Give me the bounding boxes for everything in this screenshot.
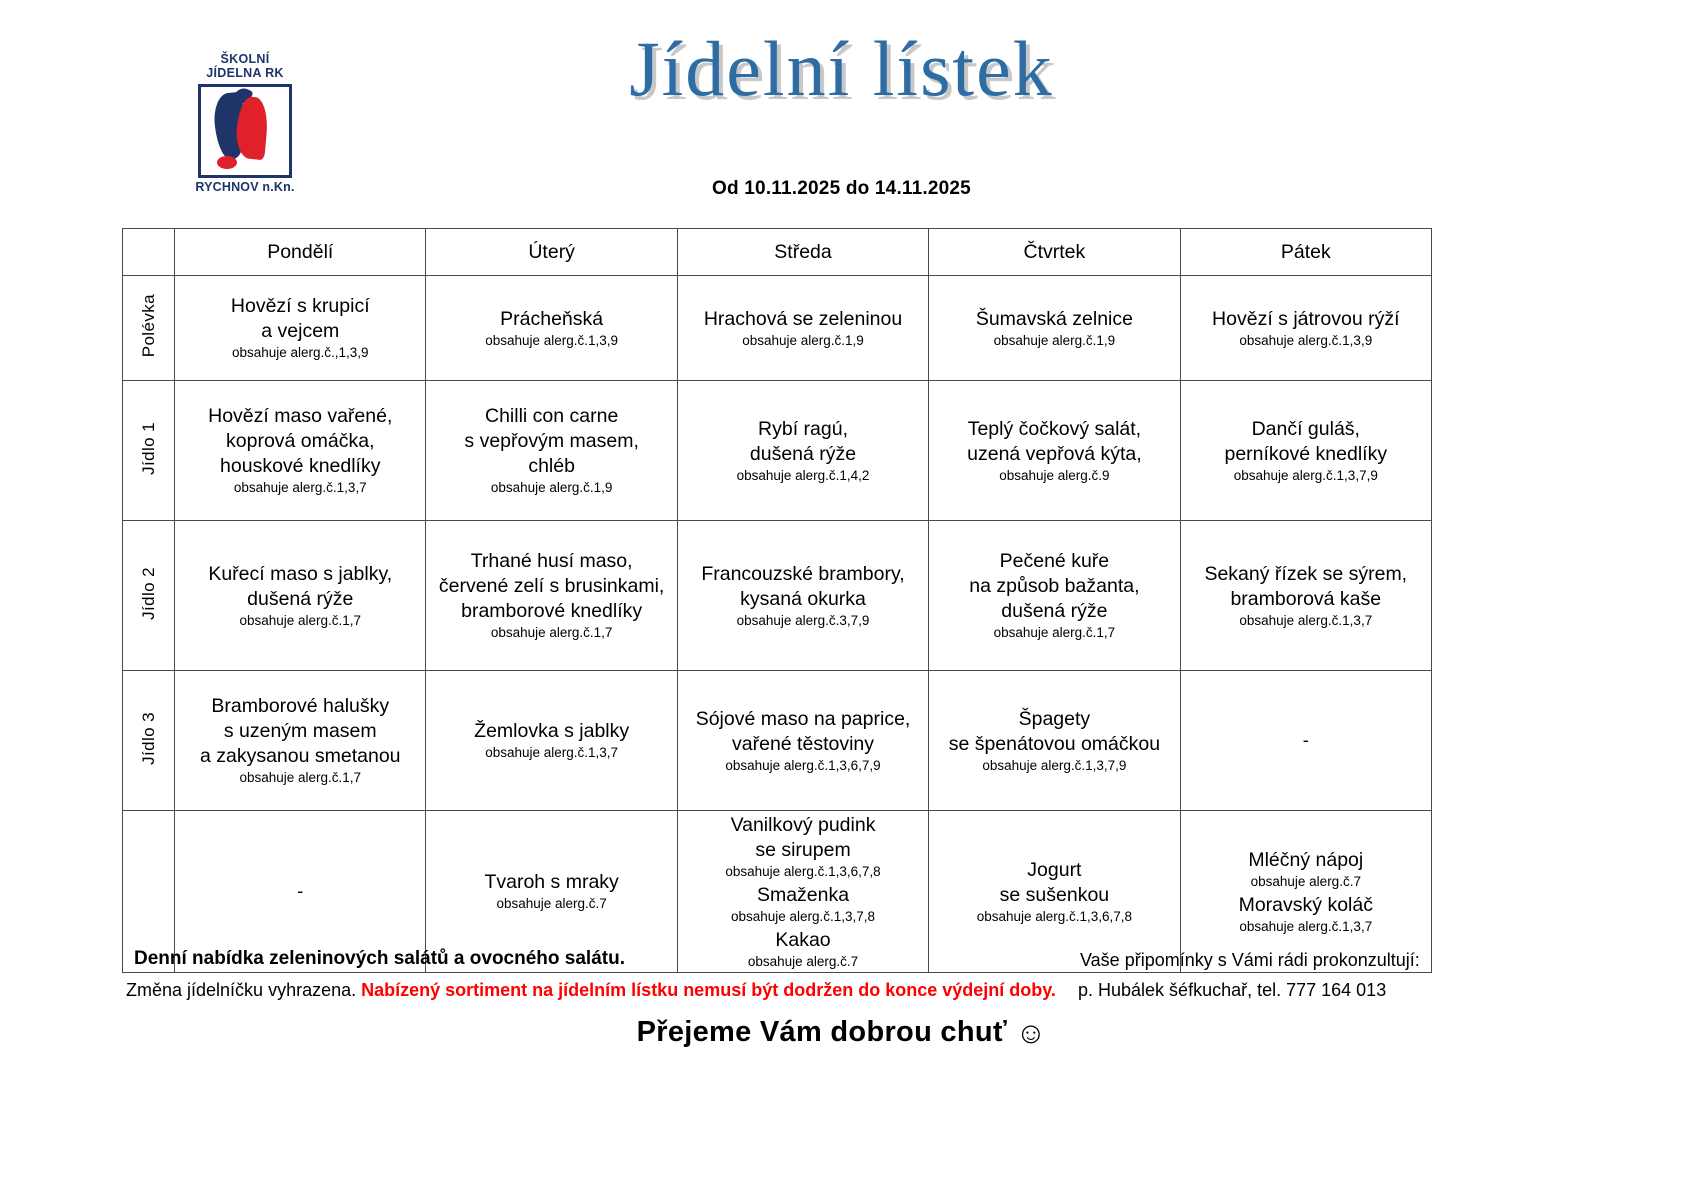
day-header-friday: Pátek xyxy=(1180,229,1431,276)
cell-meal3-thursday: Špagety se špenátovou omáčkou obsahuje a… xyxy=(929,671,1180,811)
allergen-note: obsahuje alerg.č.1,3,9 xyxy=(431,333,671,350)
dish: Bramborové halušky s uzeným masem a zaky… xyxy=(180,694,420,787)
day-header-monday: Pondělí xyxy=(175,229,426,276)
allergen-note: obsahuje alerg.č.,1,3,9 xyxy=(180,345,420,362)
cell-meal1-tuesday: Chilli con carne s vepřovým masem, chléb… xyxy=(426,381,677,521)
smiley-face-icon: ☺ xyxy=(1015,1017,1046,1050)
dish: Hovězí s krupicí a vejcem obsahuje alerg… xyxy=(180,294,420,362)
allergen-note: obsahuje alerg.č.1,3,7 xyxy=(431,745,671,762)
dish: Smaženka obsahuje alerg.č.1,3,7,8 xyxy=(683,883,923,926)
page-footer: Denní nabídka zeleninových salátů a ovoc… xyxy=(0,948,1683,1012)
cell-meal3-wednesday: Sójové maso na paprice, vařené těstoviny… xyxy=(677,671,928,811)
menu-table-container: Pondělí Úterý Středa Čtvrtek Pátek Polév… xyxy=(122,228,1432,973)
logo-red-dot-shape xyxy=(217,156,237,169)
cell-meal3-friday: - xyxy=(1180,671,1431,811)
allergen-note: obsahuje alerg.č.7 xyxy=(431,896,671,913)
day-header-tuesday: Úterý xyxy=(426,229,677,276)
cell-meal3-monday: Bramborové halušky s uzeným masem a zaky… xyxy=(175,671,426,811)
allergen-note: obsahuje alerg.č.1,9 xyxy=(934,333,1174,350)
row-label-soup: Polévka xyxy=(123,276,175,381)
dish: Dančí guláš, perníkové knedlíky obsahuje… xyxy=(1186,417,1426,485)
cell-meal2-friday: Sekaný řízek se sýrem, bramborová kaše o… xyxy=(1180,521,1431,671)
cell-meal1-thursday: Teplý čočkový salát, uzená vepřová kýta,… xyxy=(929,381,1180,521)
assortment-warning-text: Nabízený sortiment na jídelním lístku ne… xyxy=(361,980,1056,1000)
day-header-wednesday: Středa xyxy=(677,229,928,276)
contact-info: p. Hubálek šéfkuchař, tel. 777 164 013 xyxy=(1078,980,1386,1001)
cell-meal1-monday: Hovězí maso vařené, koprová omáčka, hous… xyxy=(175,381,426,521)
cell-soup-thursday: Šumavská zelnice obsahuje alerg.č.1,9 xyxy=(929,276,1180,381)
cell-soup-tuesday: Prácheňská obsahuje alerg.č.1,3,9 xyxy=(426,276,677,381)
cell-meal1-friday: Dančí guláš, perníkové knedlíky obsahuje… xyxy=(1180,381,1431,521)
dish: Špagety se špenátovou omáčkou obsahuje a… xyxy=(934,707,1174,775)
dish: Sekaný řízek se sýrem, bramborová kaše o… xyxy=(1186,562,1426,630)
menu-table-body: Polévka Hovězí s krupicí a vejcem obsahu… xyxy=(123,276,1432,973)
footer-line-1: Denní nabídka zeleninových salátů a ovoc… xyxy=(0,948,1683,980)
dish: Hovězí maso vařené, koprová omáčka, hous… xyxy=(180,404,420,497)
allergen-note: obsahuje alerg.č.1,3,7,9 xyxy=(1186,468,1426,485)
dish: Žemlovka s jablky obsahuje alerg.č.1,3,7 xyxy=(431,719,671,762)
page-title: Jídelní lístek xyxy=(0,28,1683,110)
change-reserved-text: Změna jídelníčku vyhrazena. xyxy=(126,980,361,1000)
dish: Kuřecí maso s jablky, dušená rýže obsahu… xyxy=(180,562,420,630)
day-header-thursday: Čtvrtek xyxy=(929,229,1180,276)
footer-line-2: Změna jídelníčku vyhrazena. Nabízený sor… xyxy=(0,980,1683,1012)
bon-appetit-message: Přejeme Vám dobrou chuť ☺ xyxy=(0,1016,1683,1051)
table-corner-cell xyxy=(123,229,175,276)
dish: - xyxy=(1186,729,1426,752)
allergen-note: obsahuje alerg.č.1,3,6,7,9 xyxy=(683,758,923,775)
allergen-note: obsahuje alerg.č.1,7 xyxy=(934,625,1174,642)
allergen-note: obsahuje alerg.č.1,3,7 xyxy=(1186,919,1426,936)
cell-soup-friday: Hovězí s játrovou rýží obsahuje alerg.č.… xyxy=(1180,276,1431,381)
allergen-note: obsahuje alerg.č.1,7 xyxy=(180,770,420,787)
dish: Rybí ragú, dušená rýže obsahuje alerg.č.… xyxy=(683,417,923,485)
dish: Chilli con carne s vepřovým masem, chléb… xyxy=(431,404,671,497)
bon-appetit-text: Přejeme Vám dobrou chuť xyxy=(637,1016,1008,1048)
page-header: ŠKOLNÍ JÍDELNA RK RYCHNOV n.Kn. Jídelní … xyxy=(0,0,1683,175)
dish: Prácheňská obsahuje alerg.č.1,3,9 xyxy=(431,307,671,350)
cell-meal2-wednesday: Francouzské brambory, kysaná okurka obsa… xyxy=(677,521,928,671)
dish: Trhané husí maso, červené zelí s brusink… xyxy=(431,549,671,642)
cell-meal3-tuesday: Žemlovka s jablky obsahuje alerg.č.1,3,7 xyxy=(426,671,677,811)
allergen-note: obsahuje alerg.č.1,4,2 xyxy=(683,468,923,485)
weekly-menu-table: Pondělí Úterý Středa Čtvrtek Pátek Polév… xyxy=(122,228,1432,973)
cell-meal1-wednesday: Rybí ragú, dušená rýže obsahuje alerg.č.… xyxy=(677,381,928,521)
allergen-note: obsahuje alerg.č.1,7 xyxy=(180,613,420,630)
table-row-meal-1: Jídlo 1 Hovězí maso vařené, koprová omáč… xyxy=(123,381,1432,521)
table-row-meal-2: Jídlo 2 Kuřecí maso s jablky, dušená rýž… xyxy=(123,521,1432,671)
allergen-note: obsahuje alerg.č.1,3,9 xyxy=(1186,333,1426,350)
dish: Pečené kuře na způsob bažanta, dušená rý… xyxy=(934,549,1174,642)
dish: - xyxy=(180,880,420,903)
allergen-note: obsahuje alerg.č.1,3,6,7,8 xyxy=(934,909,1174,926)
allergen-note: obsahuje alerg.č.1,9 xyxy=(431,480,671,497)
cell-meal2-monday: Kuřecí maso s jablky, dušená rýže obsahu… xyxy=(175,521,426,671)
salad-offer-note: Denní nabídka zeleninových salátů a ovoc… xyxy=(134,948,625,970)
allergen-note: obsahuje alerg.č.9 xyxy=(934,468,1174,485)
dish: Jogurt se sušenkou obsahuje alerg.č.1,3,… xyxy=(934,858,1174,926)
row-label-meal-2: Jídlo 2 xyxy=(123,521,175,671)
dish: Tvaroh s mraky obsahuje alerg.č.7 xyxy=(431,870,671,913)
dish: Mléčný nápoj obsahuje alerg.č.7 xyxy=(1186,848,1426,891)
allergen-note: obsahuje alerg.č.1,3,6,7,8 xyxy=(683,864,923,881)
cell-soup-monday: Hovězí s krupicí a vejcem obsahuje alerg… xyxy=(175,276,426,381)
allergen-note: obsahuje alerg.č.1,3,7,8 xyxy=(683,909,923,926)
allergen-note: obsahuje alerg.č.7 xyxy=(1186,874,1426,891)
dish: Šumavská zelnice obsahuje alerg.č.1,9 xyxy=(934,307,1174,350)
allergen-note: obsahuje alerg.č.3,7,9 xyxy=(683,613,923,630)
row-label-meal-3: Jídlo 3 xyxy=(123,671,175,811)
date-range: Od 10.11.2025 do 14.11.2025 xyxy=(0,178,1683,200)
menu-change-note: Změna jídelníčku vyhrazena. Nabízený sor… xyxy=(126,980,1056,1001)
cell-meal2-tuesday: Trhané husí maso, červené zelí s brusink… xyxy=(426,521,677,671)
cell-soup-wednesday: Hrachová se zeleninou obsahuje alerg.č.1… xyxy=(677,276,928,381)
table-row-meal-3: Jídlo 3 Bramborové halušky s uzeným mase… xyxy=(123,671,1432,811)
dish: Moravský koláč obsahuje alerg.č.1,3,7 xyxy=(1186,893,1426,936)
allergen-note: obsahuje alerg.č.1,3,7,9 xyxy=(934,758,1174,775)
allergen-note: obsahuje alerg.č.1,9 xyxy=(683,333,923,350)
allergen-note: obsahuje alerg.č.1,3,7 xyxy=(1186,613,1426,630)
cell-meal2-thursday: Pečené kuře na způsob bažanta, dušená rý… xyxy=(929,521,1180,671)
dish: Vanilkový pudink se sirupem obsahuje ale… xyxy=(683,813,923,881)
dish: Teplý čočkový salát, uzená vepřová kýta,… xyxy=(934,417,1174,485)
dish: Sójové maso na paprice, vařené těstoviny… xyxy=(683,707,923,775)
dish: Hovězí s játrovou rýží obsahuje alerg.č.… xyxy=(1186,307,1426,350)
dish: Hrachová se zeleninou obsahuje alerg.č.1… xyxy=(683,307,923,350)
allergen-note: obsahuje alerg.č.1,7 xyxy=(431,625,671,642)
consultation-note: Vaše připomínky s Vámi rádi prokonzultuj… xyxy=(1080,950,1420,971)
allergen-note: obsahuje alerg.č.1,3,7 xyxy=(180,480,420,497)
row-label-meal-1: Jídlo 1 xyxy=(123,381,175,521)
table-header-row: Pondělí Úterý Středa Čtvrtek Pátek xyxy=(123,229,1432,276)
dish: Francouzské brambory, kysaná okurka obsa… xyxy=(683,562,923,630)
table-row-soup: Polévka Hovězí s krupicí a vejcem obsahu… xyxy=(123,276,1432,381)
